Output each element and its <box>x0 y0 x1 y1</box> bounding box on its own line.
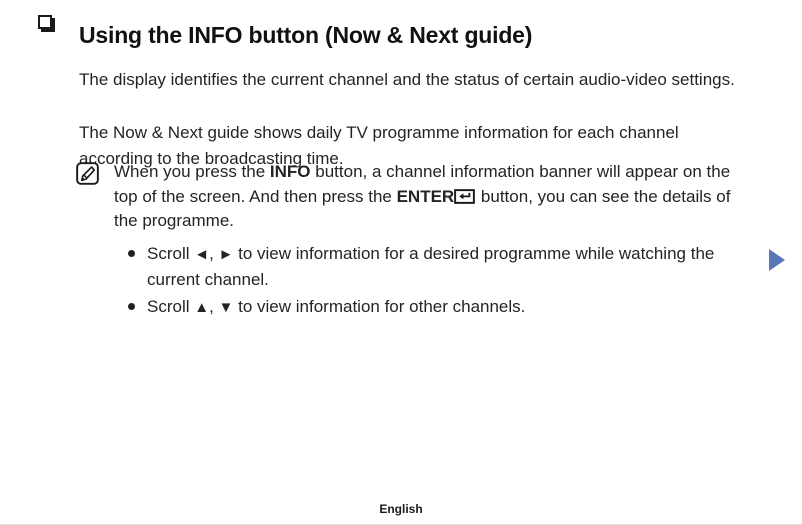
enter-return-key-icon <box>454 187 475 202</box>
triangle-right-icon[interactable] <box>769 249 785 271</box>
bullet-text-before: Scroll <box>147 297 194 316</box>
note-block: When you press the INFO button, a channe… <box>76 160 756 321</box>
arrow-separator: , <box>209 244 218 263</box>
enter-button-label: ENTER <box>397 187 455 206</box>
list-item: Scroll ▲, ▼ to view information for othe… <box>147 294 756 321</box>
note-pencil-icon <box>76 162 99 185</box>
square-bullet-icon <box>38 15 55 32</box>
info-button-label: INFO <box>270 162 311 181</box>
arrow-separator: , <box>209 297 218 316</box>
arrow-up-icon: ▲ <box>194 299 209 316</box>
arrow-right-icon: ► <box>219 246 234 263</box>
intro-paragraph-1: The display identifies the current chann… <box>79 67 740 93</box>
note-bullet-list: Scroll ◄, ► to view information for a de… <box>114 241 756 321</box>
note-paragraph: When you press the INFO button, a channe… <box>114 160 756 234</box>
bullet-text-before: Scroll <box>147 244 194 263</box>
footer-language-label: English <box>0 502 802 516</box>
list-item: Scroll ◄, ► to view information for a de… <box>147 241 756 293</box>
page-heading: Using the INFO button (Now & Next guide) <box>38 6 762 66</box>
manual-page: Using the INFO button (Now & Next guide)… <box>0 0 802 525</box>
note-text-segment-1: When you press the <box>114 162 270 181</box>
arrow-left-icon: ◄ <box>194 246 209 263</box>
bullet-dot-icon <box>128 303 135 310</box>
bullet-dot-icon <box>128 250 135 257</box>
bullet-text-after: to view information for other channels. <box>233 297 525 316</box>
note-body: When you press the INFO button, a channe… <box>114 160 756 321</box>
bullet-text-after: to view information for a desired progra… <box>147 244 714 290</box>
arrow-down-icon: ▼ <box>219 299 234 316</box>
page-title: Using the INFO button (Now & Next guide) <box>79 21 532 50</box>
